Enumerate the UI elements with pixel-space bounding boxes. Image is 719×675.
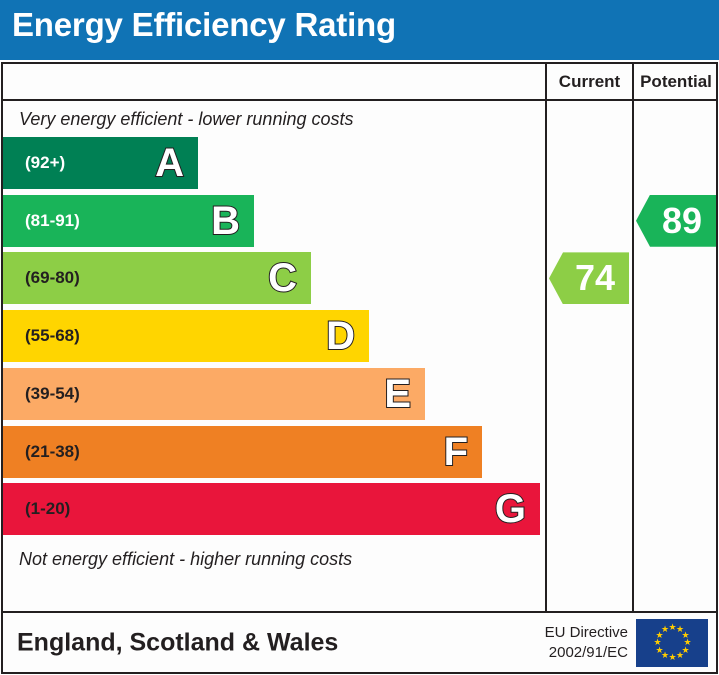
band-range-d: (55-68) bbox=[25, 326, 80, 346]
band-letter-g: G bbox=[495, 489, 526, 529]
band-list: (92+)A(81-91)B(69-80)C(55-68)D(39-54)E(2… bbox=[3, 137, 543, 541]
eu-star-icon: ★ bbox=[676, 652, 683, 659]
rating-arrow-current: 74 bbox=[549, 252, 629, 304]
eu-star-icon: ★ bbox=[656, 647, 663, 654]
eu-directive: EU Directive 2002/91/EC bbox=[545, 622, 628, 663]
column-separator-current bbox=[545, 101, 547, 613]
band-e: (39-54)E bbox=[3, 368, 425, 420]
band-range-g: (1-20) bbox=[25, 499, 70, 519]
band-range-f: (21-38) bbox=[25, 442, 80, 462]
band-letter-b: B bbox=[211, 201, 240, 241]
caption-top: Very energy efficient - lower running co… bbox=[3, 101, 543, 137]
column-header-potential: Potential bbox=[632, 64, 718, 99]
band-c: (69-80)C bbox=[3, 252, 311, 304]
footer-region: England, Scotland & Wales bbox=[17, 628, 338, 657]
title-bar: Energy Efficiency Rating bbox=[0, 0, 719, 60]
band-range-c: (69-80) bbox=[25, 268, 80, 288]
column-header-current: Current bbox=[545, 64, 632, 99]
band-d: (55-68)D bbox=[3, 310, 369, 362]
band-b: (81-91)B bbox=[3, 195, 254, 247]
page-title: Energy Efficiency Rating bbox=[12, 6, 396, 44]
rating-value-potential: 89 bbox=[662, 203, 702, 239]
band-letter-f: F bbox=[444, 432, 468, 472]
band-letter-e: E bbox=[384, 374, 411, 414]
band-range-e: (39-54) bbox=[25, 384, 80, 404]
column-header-row: Current Potential bbox=[3, 64, 716, 101]
band-g: (1-20)G bbox=[3, 483, 540, 535]
eu-star-icon: ★ bbox=[669, 654, 676, 661]
band-range-a: (92+) bbox=[25, 153, 65, 173]
band-f: (21-38)F bbox=[3, 426, 482, 478]
eu-flag-icon: ★★★★★★★★★★★★ bbox=[636, 619, 708, 667]
rating-value-current: 74 bbox=[575, 260, 615, 296]
band-letter-c: C bbox=[268, 258, 297, 298]
epc-certificate: Energy Efficiency Rating Current Potenti… bbox=[0, 0, 719, 675]
eu-star-icon: ★ bbox=[654, 639, 661, 646]
column-separator-potential bbox=[632, 101, 634, 613]
eu-directive-line2: 2002/91/EC bbox=[545, 643, 628, 663]
band-letter-d: D bbox=[326, 316, 355, 356]
eu-star-icon: ★ bbox=[661, 626, 668, 633]
caption-bottom: Not energy efficient - higher running co… bbox=[3, 541, 543, 577]
band-letter-a: A bbox=[155, 143, 184, 183]
eu-star-icon: ★ bbox=[669, 624, 676, 631]
band-a: (92+)A bbox=[3, 137, 198, 189]
rating-table: Current Potential Very energy efficient … bbox=[1, 62, 718, 613]
rating-arrow-potential: 89 bbox=[636, 195, 716, 247]
band-range-b: (81-91) bbox=[25, 211, 80, 231]
footer-bar: England, Scotland & Wales EU Directive 2… bbox=[1, 613, 718, 674]
eu-directive-line1: EU Directive bbox=[545, 622, 628, 642]
